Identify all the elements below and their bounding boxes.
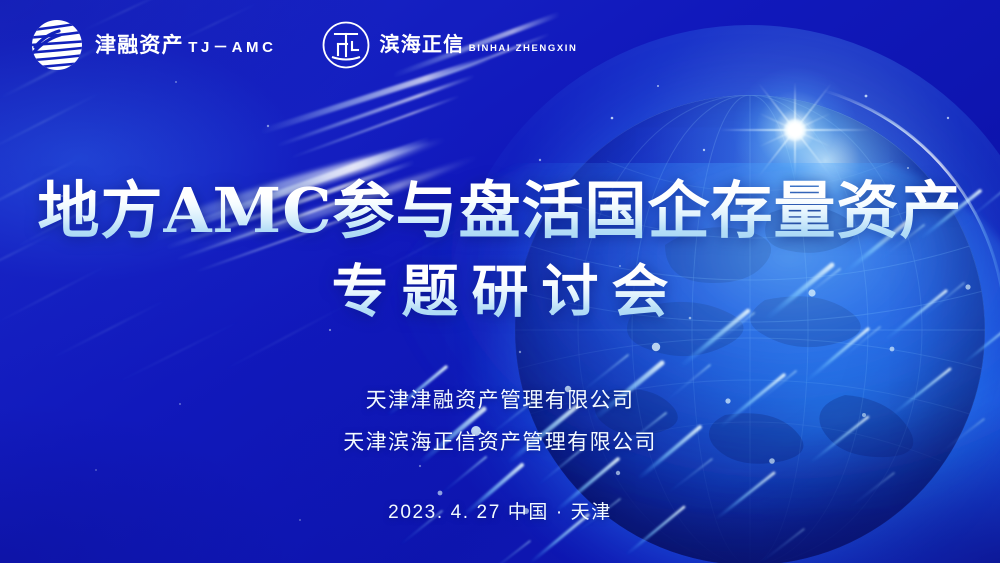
logo-binhai-en-2: ZHENGXIN [516,43,578,54]
title-line-1: 地方AMC参与盘活国企存量资产 [0,178,1000,244]
organizer-line-2: 天津滨海正信资产管理有限公司 [0,432,1000,453]
poster-canvas: 津融资产 TJ－AMC [0,0,1000,563]
logo-bar: 津融资产 TJ－AMC [28,16,577,74]
date-location-line: 2023. 4. 27 中国 · 天津 [0,497,1000,524]
logo-binhai-zhengxin[interactable]: 滨海正信 BINHAI ZHENGXIN [321,20,578,70]
organizer-block: 天津津融资产管理有限公司 天津滨海正信资产管理有限公司 [0,390,1000,453]
logo-binhai-en-1: BINHAI [469,43,511,54]
logo-tj-amc-en: TJ－AMC [188,39,276,56]
organizer-line-1: 天津津融资产管理有限公司 [0,390,1000,411]
circle-zheng-seal-logo-icon [321,20,371,70]
poster-headline: 地方AMC参与盘活国企存量资产 专题研讨会 [0,178,1000,322]
globe-lines-logo-icon [28,16,86,74]
logo-tj-amc-cn: 津融资产 [95,34,184,57]
logo-binhai-cn: 滨海正信 [380,34,465,56]
title-line-2: 专题研讨会 [0,262,1000,322]
logo-tj-amc[interactable]: 津融资产 TJ－AMC [28,16,277,74]
